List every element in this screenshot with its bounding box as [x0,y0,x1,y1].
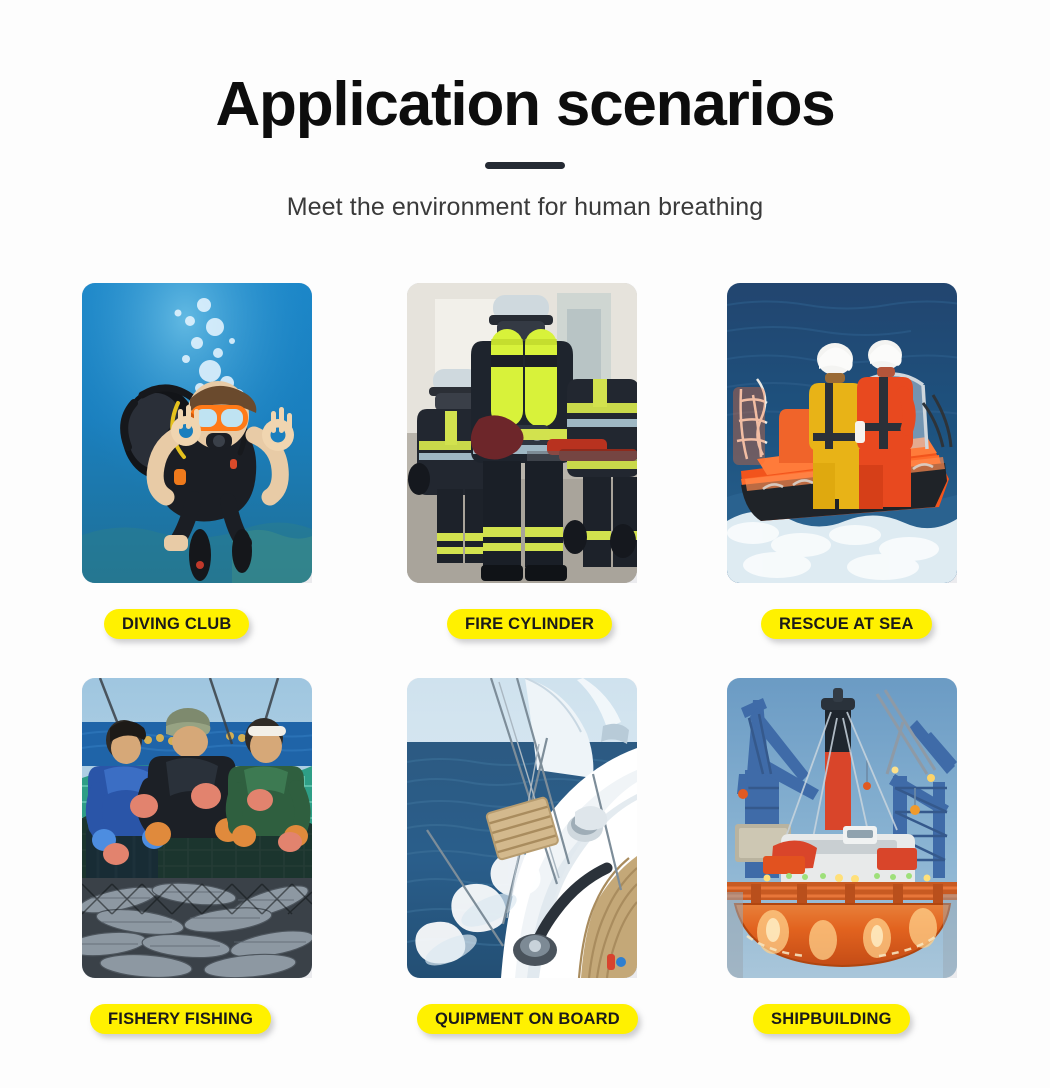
scenario-grid: DIVING CLUB [0,283,1050,1073]
badge-quipment-on-board[interactable]: QUIPMENT ON BOARD [417,1004,638,1034]
card-image-fire-cylinder[interactable] [407,283,637,583]
page-title: Application scenarios [0,74,1050,136]
badge-diving-club[interactable]: DIVING CLUB [104,609,249,639]
application-scenarios-page: Application scenarios Meet the environme… [0,0,1050,1088]
page-subtitle: Meet the environment for human breathing [0,193,1050,222]
card-image-diving-club[interactable] [82,283,312,583]
card-image-quipment-on-board[interactable] [407,678,637,978]
card-image-rescue-at-sea[interactable] [727,283,957,583]
scenario-row-2: FISHERY FISHING [0,678,1050,1073]
badge-fire-cylinder[interactable]: FIRE CYLINDER [447,609,612,639]
scenario-card-quipment-on-board[interactable]: QUIPMENT ON BOARD [385,678,685,1073]
page-header: Application scenarios Meet the environme… [0,0,1050,222]
scenario-card-rescue-at-sea[interactable]: RESCUE AT SEA [705,283,1005,678]
scenario-card-diving-club[interactable]: DIVING CLUB [60,283,360,678]
scenario-card-fire-cylinder[interactable]: FIRE CYLINDER [385,283,685,678]
card-image-shipbuilding[interactable] [727,678,957,978]
scenario-row-1: DIVING CLUB [0,283,1050,678]
card-image-fishery-fishing[interactable] [82,678,312,978]
badge-rescue-at-sea[interactable]: RESCUE AT SEA [761,609,932,639]
scenario-card-fishery-fishing[interactable]: FISHERY FISHING [60,678,360,1073]
badge-fishery-fishing[interactable]: FISHERY FISHING [90,1004,271,1034]
title-underline-rule [485,162,565,169]
badge-shipbuilding[interactable]: SHIPBUILDING [753,1004,910,1034]
scenario-card-shipbuilding[interactable]: SHIPBUILDING [705,678,1005,1073]
